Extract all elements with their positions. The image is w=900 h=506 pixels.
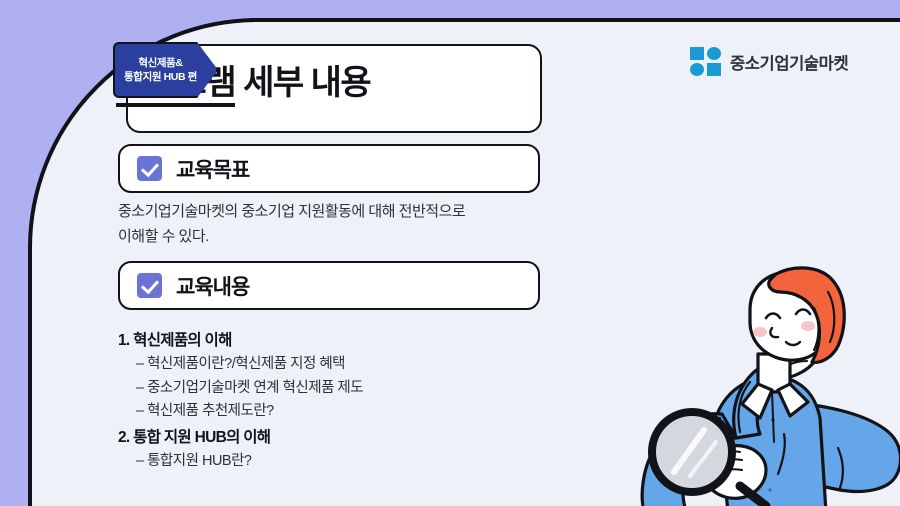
page-title-rest: 세부 내용 [235,64,370,102]
list-item: – 중소기업기술마켓 연계 혁신제품 제도 [118,377,558,400]
checkbox-checked-icon [137,273,162,298]
list-item: – 통합지원 HUB란? [118,450,558,473]
list-item: – 혁신제품이란?/혁신제품 지정 혜택 [118,353,558,376]
list-item: – 혁신제품 추천제도란? [118,400,558,423]
list-item: 2. 통합 지원 HUB의 이해 [118,426,558,450]
slide-canvas: 중소기업기술마켓 프로그램 세부 내용 혁신제품& 통합지원 HUB 편 교육목… [0,0,900,506]
goal-description: 중소기업기술마켓의 중소기업 지원활동에 대해 전반적으로 이해할 수 있다. [118,200,548,250]
goal-description-line1: 중소기업기술마켓의 중소기업 지원활동에 대해 전반적으로 [118,200,548,225]
content-outline-list: 1. 혁신제품의 이해 – 혁신제품이란?/혁신제품 지정 혜택 – 중소기업기… [118,326,558,474]
title-badge-shape [113,42,218,98]
tech-market-logo-icon [690,47,721,76]
section-header-goal: 교육목표 [118,144,540,193]
goal-description-line2: 이해할 수 있다. [118,225,548,250]
brand-logo-text: 중소기업기술마켓 [730,50,848,74]
section-header-content: 교육내용 [118,261,540,310]
section-label-goal: 교육목표 [176,154,249,184]
checkbox-checked-icon [137,156,162,181]
person-with-magnifier-illustration [600,262,900,506]
list-item: 1. 혁신제품의 이해 [118,329,558,353]
brand-logo: 중소기업기술마켓 [690,47,848,76]
top-divider-rule [250,18,900,22]
section-label-content: 교육내용 [176,271,249,301]
